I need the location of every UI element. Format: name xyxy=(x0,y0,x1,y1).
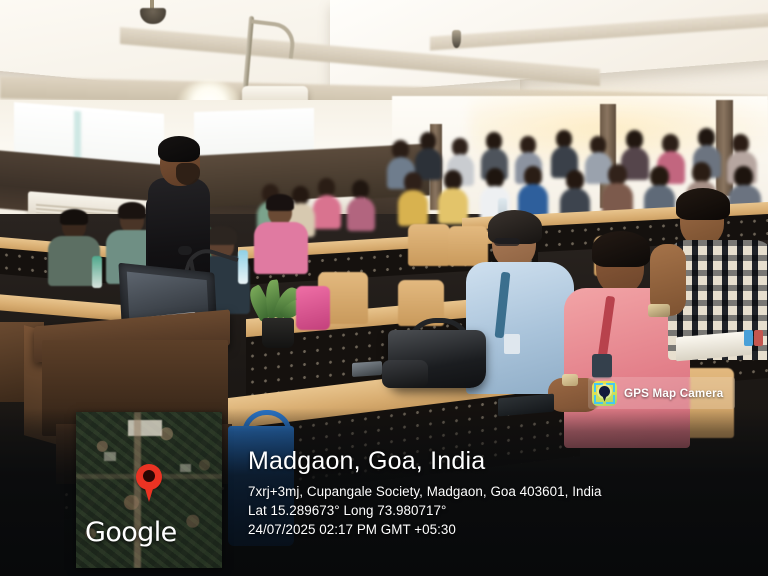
location-address: 7xrj+3mj, Cupangale Society, Madgaon, Go… xyxy=(248,482,748,501)
chair[interactable] xyxy=(448,226,488,266)
map-thumbnail[interactable]: Google xyxy=(76,412,222,568)
marker-pen xyxy=(754,330,763,346)
marker-pen xyxy=(744,330,753,346)
hair xyxy=(676,188,730,220)
google-watermark: Google xyxy=(85,519,177,546)
map-building xyxy=(180,464,191,472)
small-pouch xyxy=(382,360,428,388)
ceiling-camera xyxy=(452,30,461,48)
location-info: Madgaon, Goa, India 7xrj+3mj, Cupangale … xyxy=(248,448,748,539)
gps-map-camera-app-icon xyxy=(592,381,617,406)
microphone-head xyxy=(178,246,192,255)
photo-timestamp: 24/07/2025 02:17 PM GMT +05:30 xyxy=(248,520,748,539)
speaker-hair xyxy=(158,136,200,162)
map-pin-dot xyxy=(143,470,155,482)
hair xyxy=(592,231,650,267)
water-bottle xyxy=(238,250,248,284)
map-building xyxy=(104,452,116,461)
chair[interactable] xyxy=(408,224,450,266)
eyeglasses xyxy=(494,238,520,246)
smartphone xyxy=(352,361,382,377)
pin-lens-icon xyxy=(599,386,610,397)
gps-map-camera-screenshot: Google Madgaon, Goa, India 7xrj+3mj, Cup… xyxy=(0,0,768,576)
wristwatch xyxy=(562,374,578,386)
gps-map-camera-badge: GPS Map Camera xyxy=(588,377,735,409)
gps-map-camera-label: GPS Map Camera xyxy=(624,387,723,400)
map-pin-icon xyxy=(136,464,162,490)
water-bottle xyxy=(92,256,102,288)
plant-pot xyxy=(262,318,294,348)
id-badge xyxy=(504,334,520,354)
location-coordinates: Lat 15.289673° Long 73.980717° xyxy=(248,501,748,520)
wristwatch xyxy=(648,304,670,317)
location-title: Madgaon, Goa, India xyxy=(248,448,748,476)
id-badge xyxy=(592,354,612,378)
backpack xyxy=(296,286,330,330)
